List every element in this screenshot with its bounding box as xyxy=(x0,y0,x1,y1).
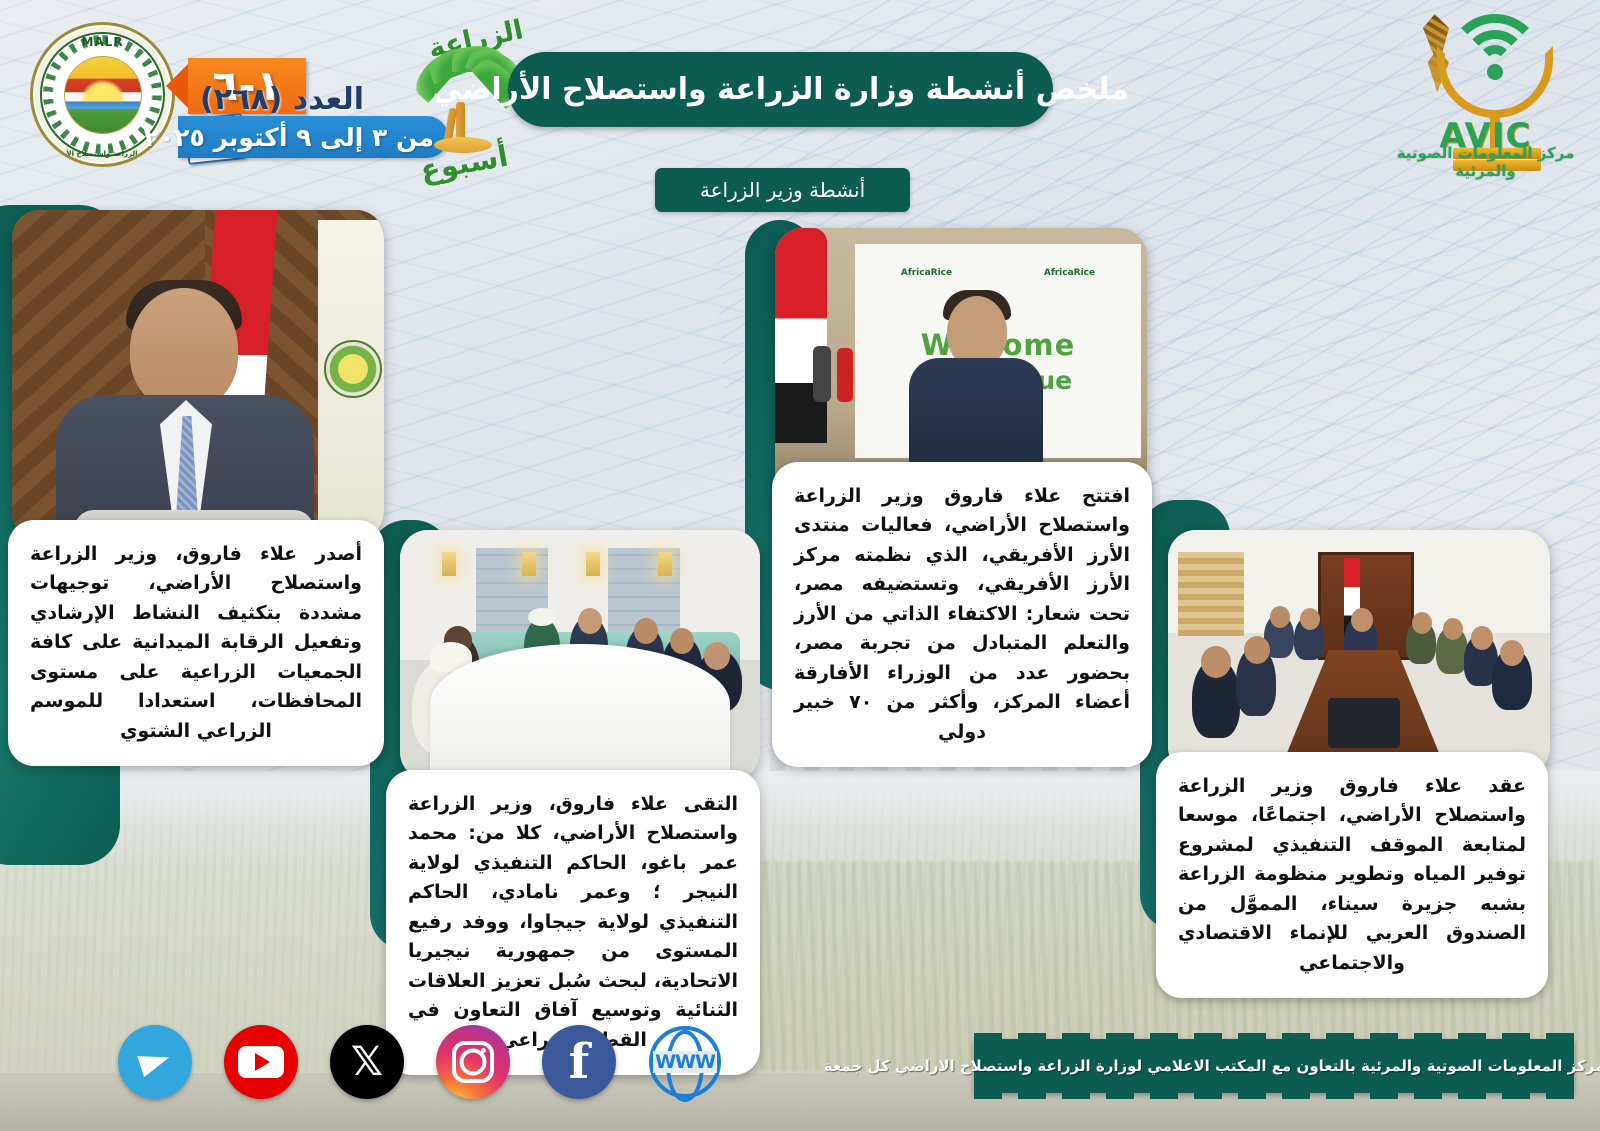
photo-roundtable-meeting xyxy=(400,530,760,780)
youtube-icon[interactable] xyxy=(224,1025,298,1099)
telegram-glyph xyxy=(137,1047,172,1077)
seal-top-text: MALR xyxy=(33,35,172,49)
caption-africarice-forum: افتتح علاء فاروق وزير الزراعة واستصلاح ا… xyxy=(772,462,1152,767)
poster-canvas: MALR وزارة الزراعة واستصلاح الأراضي ١-٦ … xyxy=(0,0,1600,1131)
section-title: أنشطة وزير الزراعة xyxy=(655,168,910,212)
issue-number-label: العدد (٢٦٨) xyxy=(200,82,364,117)
photo-minister-portrait xyxy=(12,210,384,540)
photo-conference-meeting xyxy=(1168,530,1550,775)
poster-header: MALR وزارة الزراعة واستصلاح الأراضي ١-٦ … xyxy=(0,0,1600,200)
facebook-glyph: f xyxy=(569,1034,590,1090)
avic-logo: AVIC مركز المعلومات الصوتية والمرئية xyxy=(1393,8,1578,180)
page-title-label: ملخص أنشطة وزارة الزراعة واستصلاح الأراض… xyxy=(432,72,1129,107)
x-twitter-icon[interactable]: 𝕏 xyxy=(330,1025,404,1099)
social-links-row: WWW f 𝕏 xyxy=(118,1025,722,1099)
date-range-label: من ٣ إلى ٩ أكتوبر ٢٠٢٥ xyxy=(144,123,434,152)
egypt-flag-standee xyxy=(775,228,827,443)
seal-emblem-icon xyxy=(64,56,142,134)
africarice-logo-left: AfricaRice xyxy=(901,268,952,278)
microphone-icon xyxy=(813,346,831,402)
meeting-table xyxy=(430,644,730,780)
facebook-icon[interactable]: f xyxy=(542,1025,616,1099)
avic-subtitle-label: مركز المعلومات الصوتية والمرئية xyxy=(1393,144,1578,180)
x-glyph: 𝕏 xyxy=(351,1039,383,1085)
website-label: WWW xyxy=(653,1051,717,1073)
malr-banner xyxy=(318,220,384,540)
youtube-glyph xyxy=(238,1046,284,1078)
instagram-glyph xyxy=(452,1041,494,1083)
avic-bowl-shape xyxy=(1437,46,1553,118)
caption-sinai-water-project: عقد علاء فاروق وزير الزراعة واستصلاح الأ… xyxy=(1156,752,1548,998)
website-icon[interactable]: WWW xyxy=(648,1025,722,1099)
footer-banner: اصدار اسبوعي لمركز المعلومات الصوتية وال… xyxy=(974,1039,1574,1093)
section-title-label: أنشطة وزير الزراعة xyxy=(700,178,865,202)
instagram-icon[interactable] xyxy=(436,1025,510,1099)
africarice-logo-right: AfricaRice xyxy=(1044,268,1095,278)
caption-extension-activity: أصدر علاء فاروق، وزير الزراعة واستصلاح ا… xyxy=(8,520,384,766)
page-title: ملخص أنشطة وزارة الزراعة واستصلاح الأراض… xyxy=(508,52,1053,127)
microphone-icon-2 xyxy=(837,348,853,402)
footer-banner-label: اصدار اسبوعي لمركز المعلومات الصوتية وال… xyxy=(824,1057,1600,1075)
africarice-logo-row: AfricaRice AfricaRice xyxy=(855,262,1141,284)
telegram-icon[interactable] xyxy=(118,1025,192,1099)
projector-unit xyxy=(1328,698,1400,748)
